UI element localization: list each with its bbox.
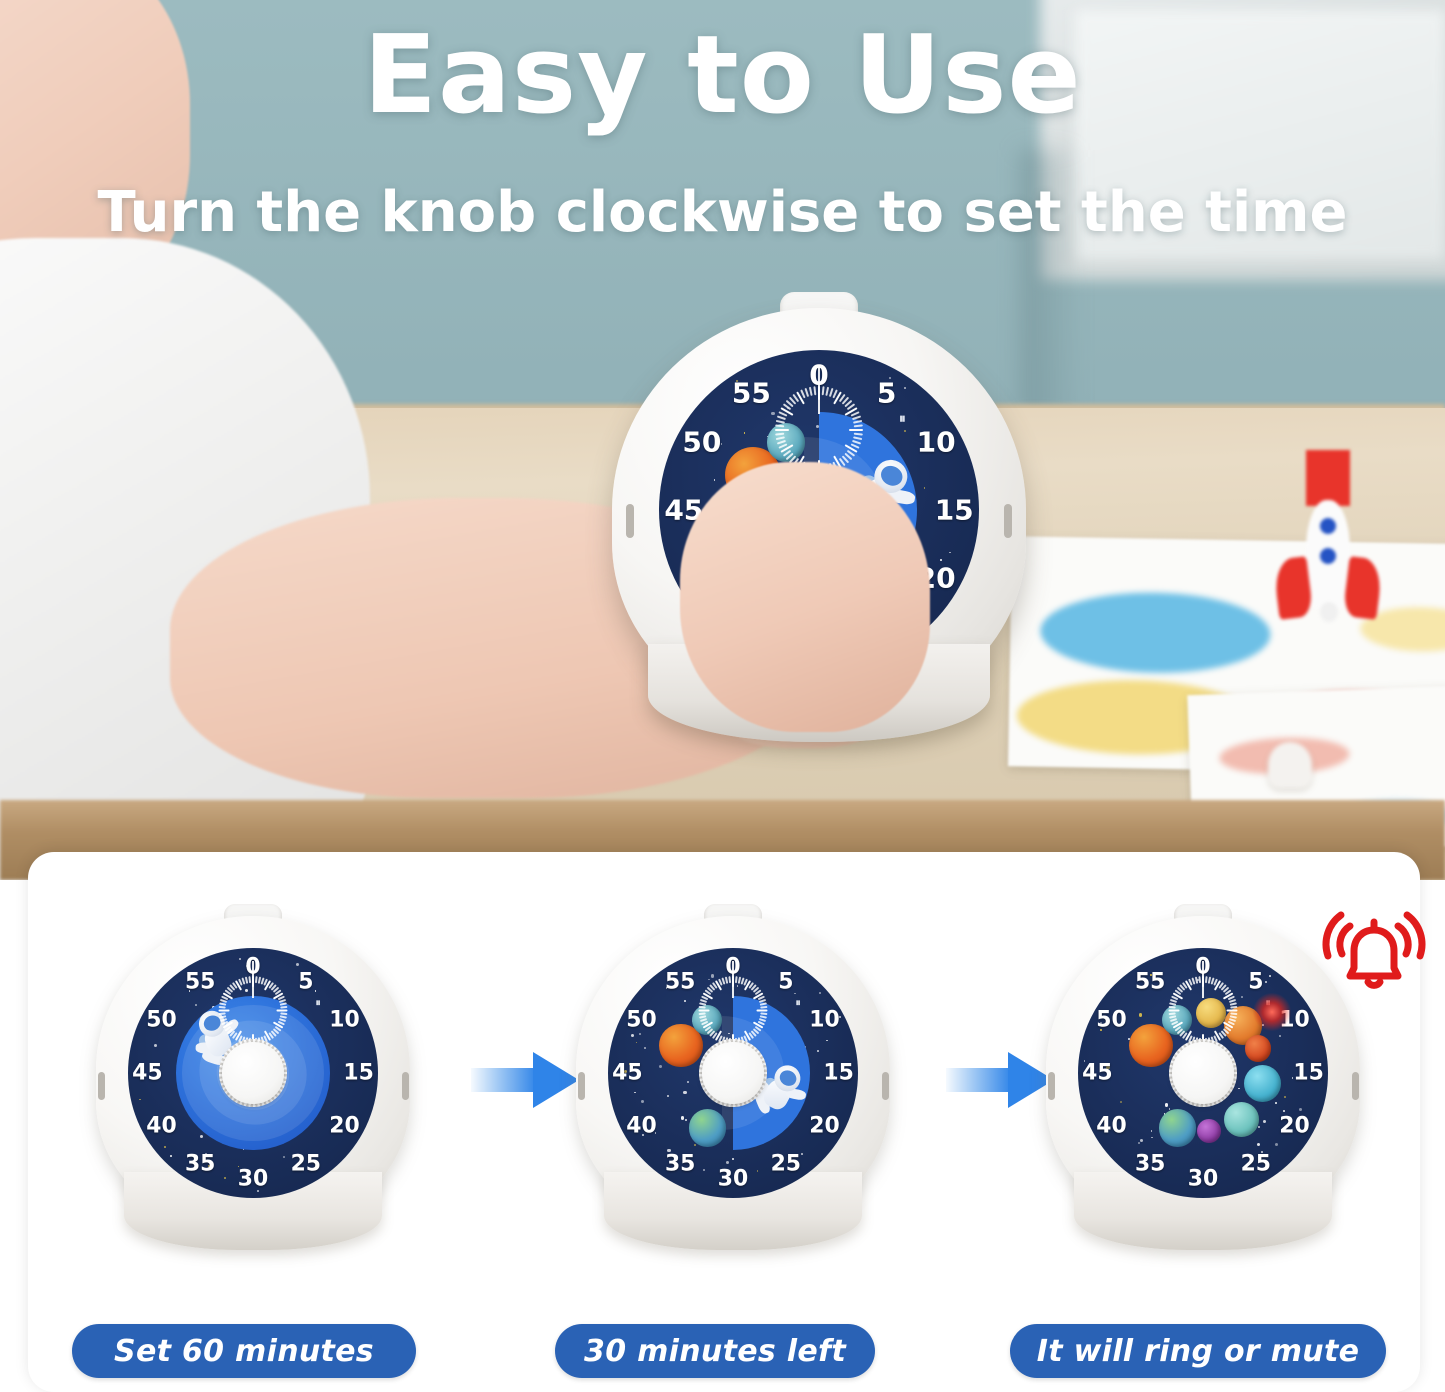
step2-side-button-left[interactable] <box>578 1072 585 1100</box>
dial-star <box>904 430 906 432</box>
child-hand <box>680 462 930 732</box>
dial-number-10: 10 <box>329 1008 359 1033</box>
dial-number-50: 50 <box>146 1008 176 1033</box>
dial-star <box>819 992 821 994</box>
dial-number-5: 5 <box>778 969 793 994</box>
pause-mark-icon: ⏸ <box>899 411 906 427</box>
dial-star <box>714 479 716 481</box>
dial-star <box>1284 1096 1286 1098</box>
dial-number-25: 25 <box>771 1152 801 1177</box>
dial-number-40: 40 <box>626 1113 656 1138</box>
dial-star <box>726 1161 729 1164</box>
dial-number-25: 25 <box>291 1152 321 1177</box>
dial-star <box>801 1153 803 1155</box>
dial-number-15: 15 <box>343 1061 373 1086</box>
dial-number-45: 45 <box>1082 1061 1112 1086</box>
step-caption-3: It will ring or mute <box>1010 1324 1386 1378</box>
dial-zero-pointer <box>732 961 734 999</box>
center-knob[interactable] <box>1172 1042 1233 1103</box>
dial-star <box>639 1033 641 1035</box>
planet-drawing-blue <box>1040 591 1271 675</box>
dial-star <box>1299 1108 1302 1111</box>
dial-star <box>170 1155 172 1157</box>
dial-star <box>154 1044 157 1047</box>
dial-number-35: 35 <box>185 1152 215 1177</box>
timer-dial-step2[interactable]: 0510152025303540455055⏸ <box>608 948 858 1198</box>
dial-number-20: 20 <box>1279 1113 1309 1138</box>
dial-number-10: 10 <box>809 1008 839 1033</box>
dial-number-50: 50 <box>626 1008 656 1033</box>
dial-number-10: 10 <box>917 426 956 459</box>
dial-number-30: 30 <box>238 1166 268 1191</box>
dial-star <box>924 487 926 489</box>
dial-star <box>1151 1137 1153 1139</box>
dial-number-15: 15 <box>823 1061 853 1086</box>
step-card-2: 0510152025303540455055⏸ <box>568 904 898 1254</box>
step-card-1: 0510152025303540455055⏸ <box>88 904 418 1254</box>
step1-side-button-right[interactable] <box>402 1072 409 1100</box>
dial-star <box>644 1047 646 1049</box>
dial-star <box>817 1050 819 1052</box>
step-caption-2: 30 minutes left <box>555 1324 875 1378</box>
dial-star <box>904 387 906 389</box>
dial-zero-pointer <box>818 366 820 414</box>
dial-star <box>949 552 951 554</box>
dial-number-45: 45 <box>612 1061 642 1086</box>
dial-star <box>1238 1088 1240 1090</box>
dial-star <box>1257 1143 1260 1146</box>
dial-number-20: 20 <box>329 1113 359 1138</box>
dial-number-55: 55 <box>185 969 215 994</box>
dial-star <box>636 1042 638 1044</box>
dial-star <box>1279 1035 1281 1037</box>
alarm-bell-icon <box>1314 896 1434 1008</box>
planet-saturn-2 <box>1224 1102 1259 1137</box>
step1-side-button-left[interactable] <box>98 1072 105 1100</box>
dial-number-50: 50 <box>1096 1008 1126 1033</box>
dial-star <box>794 993 796 995</box>
dial-zero-pointer <box>252 961 254 999</box>
planet-neptune <box>1244 1065 1282 1103</box>
dial-number-35: 35 <box>1135 1152 1165 1177</box>
dial-star <box>1269 975 1271 977</box>
step3-side-button-left[interactable] <box>1048 1072 1055 1100</box>
dial-star <box>224 1177 226 1179</box>
planet-earth <box>1159 1109 1197 1147</box>
dial-star <box>1140 1139 1143 1142</box>
arrow-shaft <box>471 1068 537 1092</box>
alarm-led-indicator <box>1253 993 1291 1031</box>
center-knob[interactable] <box>222 1042 283 1103</box>
toy-rocket-right <box>1270 450 1390 640</box>
dial-star <box>757 1170 759 1172</box>
step-caption-1: Set 60 minutes <box>72 1324 416 1378</box>
dial-star <box>1283 1110 1285 1112</box>
steps-panel: 0510152025303540455055⏸ 0510152025303540… <box>28 852 1420 1392</box>
dial-star <box>631 1034 634 1037</box>
center-knob[interactable] <box>702 1042 763 1103</box>
dial-number-30: 30 <box>718 1166 748 1191</box>
dial-number-5: 5 <box>1248 969 1263 994</box>
dial-star <box>744 432 746 434</box>
page-subtitle: Turn the knob clockwise to set the time <box>0 185 1445 241</box>
dial-star <box>641 1100 644 1103</box>
dial-star <box>1263 1120 1266 1123</box>
dial-zero-pointer <box>1202 961 1204 999</box>
dial-number-55: 55 <box>665 969 695 994</box>
dial-number-40: 40 <box>1096 1113 1126 1138</box>
pause-mark-icon: ⏸ <box>796 996 801 1010</box>
dial-star <box>164 1146 166 1148</box>
dial-star <box>315 990 317 992</box>
dial-number-15: 15 <box>935 494 974 527</box>
dial-number-5: 5 <box>298 969 313 994</box>
dial-star <box>703 1169 705 1171</box>
device-side-button-left[interactable] <box>626 504 634 538</box>
dial-number-50: 50 <box>682 426 721 459</box>
dial-number-25: 25 <box>1241 1152 1271 1177</box>
dial-star <box>1275 1102 1277 1104</box>
dial-number-55: 55 <box>1135 969 1165 994</box>
timer-dial-step1[interactable]: 0510152025303540455055⏸ <box>128 948 378 1198</box>
dial-number-35: 35 <box>665 1152 695 1177</box>
dial-star <box>200 1135 203 1138</box>
dial-star <box>1151 1130 1153 1132</box>
planet-mars <box>1245 1035 1271 1061</box>
next-step-arrow-1 <box>471 1052 579 1108</box>
dial-number-30: 30 <box>1188 1166 1218 1191</box>
dial-number-40: 40 <box>146 1113 176 1138</box>
dial-star <box>1120 1101 1122 1103</box>
planet-earth <box>689 1109 727 1147</box>
dial-number-20: 20 <box>809 1113 839 1138</box>
dial-star <box>1165 1103 1168 1106</box>
planet-purple <box>1197 1119 1222 1144</box>
dial-star <box>1265 981 1267 983</box>
device-side-button-right[interactable] <box>1004 504 1012 538</box>
dial-star <box>1138 1142 1140 1144</box>
dial-star <box>732 1158 734 1160</box>
page-title: Easy to Use <box>0 22 1445 130</box>
dial-star <box>283 1156 285 1158</box>
dial-star <box>694 1144 696 1146</box>
pause-mark-icon: ⏸ <box>316 996 321 1010</box>
arrow-shaft <box>946 1068 1012 1092</box>
dial-number-55: 55 <box>732 376 771 409</box>
dial-number-45: 45 <box>132 1061 162 1086</box>
dial-star <box>826 1040 828 1042</box>
dial-star <box>296 963 299 966</box>
toy-cone-c <box>1268 742 1312 788</box>
dial-star <box>1275 1143 1278 1146</box>
dial-star <box>139 1099 141 1101</box>
dial-star <box>1258 1126 1260 1128</box>
dial-number-5: 5 <box>877 376 896 409</box>
step3-side-button-right[interactable] <box>1352 1072 1359 1100</box>
dial-star <box>634 1092 636 1094</box>
step2-side-button-right[interactable] <box>882 1072 889 1100</box>
dial-number-15: 15 <box>1293 1061 1323 1086</box>
timer-dial-step3[interactable]: 0510152025303540455055⏸ <box>1078 948 1328 1198</box>
